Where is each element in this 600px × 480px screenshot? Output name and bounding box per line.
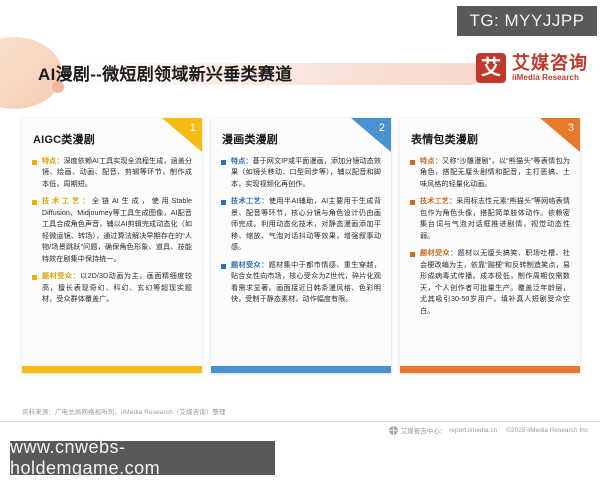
logo-mark-icon: 艾 [476,53,506,83]
bullet-item: 题材受众：题材集中于都市情感、重生穿越，贴合女性向市场，核心受众为Z世代，碎片化… [221,260,381,306]
bullet-text: 特点：深度依赖AI工具实现全流程生成，涵盖分镜、绘画、动画、配音、剪辑等环节，制… [42,156,192,190]
logo-name-cn: 艾媒咨询 [512,54,588,73]
report-url[interactable]: report.iimedia.cn [449,427,497,434]
bullet-square-icon [221,264,226,269]
bullet-square-icon [410,160,415,165]
bullet-item: 技术工艺：全链AI生成，使用Stable Diffusion、Midjourne… [32,196,192,265]
bullet-content: 基于网文IP或平面漫画，添加分镜动态效果（如镜头移动、口型同步等），辅以配音和脚… [231,157,381,188]
bullet-square-icon [410,200,415,205]
card-body-1: 特点：深度依赖AI工具实现全流程生成，涵盖分镜、绘画、动画、配音、剪辑等环节，制… [22,156,202,362]
bullet-text: 题材受众：以2D/3D动画为主，画面精细度较高，擅长表现奇幻、科幻、玄幻等超现实… [42,271,192,305]
bullet-item: 特点：基于网文IP或平面漫画，添加分镜动态效果（如镜头移动、口型同步等），辅以配… [221,156,381,190]
bullet-square-icon [32,200,37,205]
bullet-label: 题材受众： [231,261,269,269]
bullet-square-icon [410,252,415,257]
bullet-square-icon [32,275,37,280]
footer-meta: 艾媒报告中心： report.iimedia.cn ©2025 iiMedia … [389,425,588,435]
bullet-label: 题材受众： [420,249,458,257]
bullet-text: 技术工艺：全链AI生成，使用Stable Diffusion、Midjourne… [42,196,192,265]
card-title-2: 漫画类漫剧 [222,131,391,147]
bullet-item: 技术工艺：采用标志性元素“熊猫头”等网络表情包作为角色头像，搭配简单肢体动作。依… [410,196,570,242]
logo-name-en: iiMedia Research [512,73,588,82]
card-list: 1 AIGC类漫剧 特点：深度依赖AI工具实现全流程生成，涵盖分镜、绘画、动画、… [22,118,580,373]
bullet-label: 特点： [42,157,63,165]
bullet-item: 特点：深度依赖AI工具实现全流程生成，涵盖分镜、绘画、动画、配音、剪辑等环节，制… [32,156,192,190]
bullet-item: 特点：又称“沙雕漫剧”，以“熊猫头”等表情包为角色，搭配无厘头剧情和配音，主打恶… [410,156,570,190]
bullet-label: 特点： [420,157,442,165]
bullet-label: 技术工艺： [420,197,456,205]
bullet-square-icon [221,160,226,165]
watermark-bottom-left: www.cnwebs-holdemgame.com [10,441,275,475]
bullet-text: 题材受众：题材以无厘头搞笑、职场吐槽、社会梗改编为主，依靠“融梗”和反转制造笑点… [420,248,570,317]
bullet-text: 特点：基于网文IP或平面漫画，添加分镜动态效果（如镜头移动、口型同步等），辅以配… [231,156,381,190]
bullet-content: 深度依赖AI工具实现全流程生成，涵盖分镜、绘画、动画、配音、剪辑等环节，制作成本… [42,157,192,188]
card-accent-bar-2 [211,366,391,373]
bullet-content: 使用半AI辅助，AI主要用于生成背景、配音等环节，核心分镜与角色设计仍由画师完成… [231,197,381,251]
bullet-content: 又称“沙雕漫剧”，以“熊猫头”等表情包为角色，搭配无厘头剧情和配音，主打恶搞、土… [420,157,570,188]
card-body-2: 特点：基于网文IP或平面漫画，添加分镜动态效果（如镜头移动、口型同步等），辅以配… [211,156,391,362]
page-header: AI漫剧--微短剧领域新兴垂类赛道 艾 艾媒咨询 iiMedia Researc… [0,45,600,103]
card-title-3: 表情包类漫剧 [411,131,580,147]
bullet-square-icon [221,200,226,205]
bullet-text: 技术工艺：采用标志性元素“熊猫头”等网络表情包作为角色头像，搭配简单肢体动作。依… [420,196,570,242]
page-title: AI漫剧--微短剧领域新兴垂类赛道 [38,60,292,85]
source-note: 资料来源：广电总局网络视听司、iiMedia Research（艾媒咨询）整理 [22,406,226,416]
bullet-text: 特点：又称“沙雕漫剧”，以“熊猫头”等表情包为角色，搭配无厘头剧情和配音，主打恶… [420,156,570,190]
bullet-text: 技术工艺：使用半AI辅助，AI主要用于生成背景、配音等环节，核心分镜与角色设计仍… [231,196,381,253]
copyright-text: ©2025 iiMedia Research Inc [506,427,588,434]
bullet-text: 题材受众：题材集中于都市情感、重生穿越，贴合女性向市场，核心受众为Z世代，碎片化… [231,260,381,306]
bullet-square-icon [32,160,37,165]
card-manhua-manju[interactable]: 2 漫画类漫剧 特点：基于网文IP或平面漫画，添加分镜动态效果（如镜头移动、口型… [211,118,391,373]
bullet-label: 特点： [231,157,252,165]
watermark-top-right: TG: MYYJJPP [457,6,597,36]
bullet-content: 题材以无厘头搞笑、职场吐槽、社会梗改编为主，依靠“融梗”和反转制造笑点，易形成病… [420,249,570,314]
footer-divider [0,421,600,422]
card-title-1: AIGC类漫剧 [33,131,202,147]
bullet-item: 题材受众：题材以无厘头搞笑、职场吐槽、社会梗改编为主，依靠“融梗”和反转制造笑点… [410,248,570,317]
bullet-item: 题材受众：以2D/3D动画为主，画面精细度较高，擅长表现奇幻、科幻、玄幻等超现实… [32,271,192,305]
report-center-label: 艾媒报告中心： [401,425,447,435]
card-body-3: 特点：又称“沙雕漫剧”，以“熊猫头”等表情包为角色，搭配无厘头剧情和配音，主打恶… [400,156,580,362]
bullet-item: 技术工艺：使用半AI辅助，AI主要用于生成背景、配音等环节，核心分镜与角色设计仍… [221,196,381,253]
card-aigc-manju[interactable]: 1 AIGC类漫剧 特点：深度依赖AI工具实现全流程生成，涵盖分镜、绘画、动画、… [22,118,202,373]
card-biaoqingbao-manju[interactable]: 3 表情包类漫剧 特点：又称“沙雕漫剧”，以“熊猫头”等表情包为角色，搭配无厘头… [400,118,580,373]
globe-icon [389,426,398,435]
report-center-group[interactable]: 艾媒报告中心： report.iimedia.cn [389,425,498,435]
bullet-label: 技术工艺： [231,197,269,205]
brand-logo: 艾 艾媒咨询 iiMedia Research [476,53,588,83]
bullet-label: 题材受众： [42,272,80,280]
card-accent-bar-3 [400,366,580,373]
bullet-content: 全链AI生成，使用Stable Diffusion、Midjourney等工具生… [42,197,192,262]
card-accent-bar-1 [22,366,202,373]
bullet-label: 技术工艺： [42,197,92,205]
